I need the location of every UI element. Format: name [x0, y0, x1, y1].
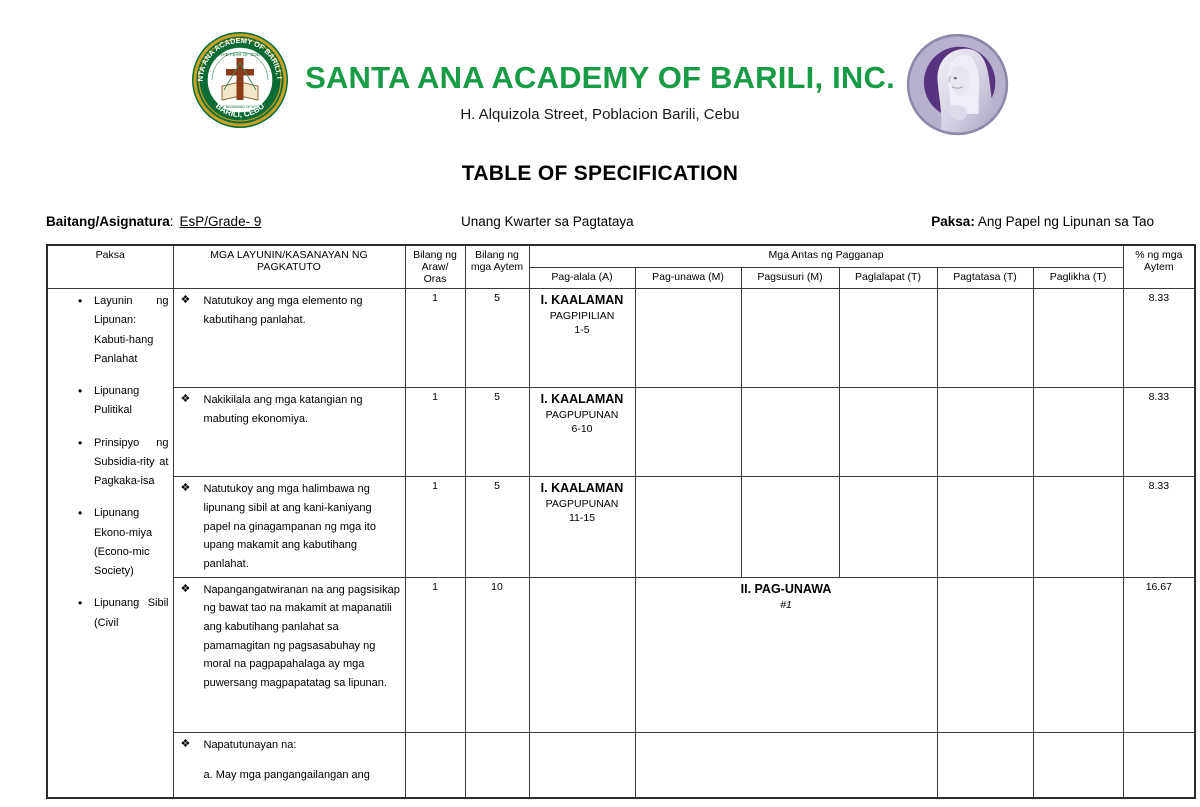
header-level-paglalapat: Paglalapat (T): [839, 267, 937, 289]
cell-pagtatasa: [937, 732, 1033, 798]
percent-cell: [1123, 732, 1195, 798]
objective-cell: Natutukoy ang mga elemento ng kabutihang…: [173, 289, 405, 388]
cell-pagunawa: [635, 289, 741, 388]
list-item: Prinsipyo ng Subsidia-rity at Pagkaka-is…: [78, 434, 169, 492]
cell-paglikha: [1033, 388, 1123, 477]
table-row: Nakikilala ang mga katangian ng mabuting…: [47, 388, 1195, 477]
cell-pagtatasa: [937, 388, 1033, 477]
cognitive-range: 11-15: [534, 511, 631, 525]
percent-cell: 8.33: [1123, 289, 1195, 388]
objective-subitem: a. May mga pangangailangan ang: [178, 766, 401, 785]
cognitive-type: PAGPIPILIAN: [534, 309, 631, 323]
document-title: TABLE OF SPECIFICATION: [0, 162, 1200, 186]
cell-pagsusuri: [741, 477, 839, 577]
header-percent: % ng mga Aytem: [1123, 245, 1195, 289]
items-cell: 5: [465, 388, 529, 477]
cell-pagalala: [529, 732, 635, 798]
cell-pagunawa: [635, 388, 741, 477]
objective-text: Nakikilala ang mga katangian ng mabuting…: [178, 391, 401, 428]
cell-pagsusuri: [741, 289, 839, 388]
header-days: Bilang ng Araw/ Oras: [405, 245, 465, 289]
objective-cell: Napatutunayan na: a. May mga pangangaila…: [173, 732, 405, 798]
table-row: Layunin ng Lipunan: Kabuti-hang Panlahat…: [47, 289, 1195, 388]
list-item: Lipunang Sibil (Civil: [78, 594, 169, 633]
svg-text:THE FEAR OF GOD: THE FEAR OF GOD: [220, 52, 260, 57]
cell-pagsusuri: [741, 388, 839, 477]
percent-cell: 16.67: [1123, 577, 1195, 732]
objective-text: Napangangatwiranan na ang pagsisikap ng …: [178, 581, 401, 693]
cell-pagtatasa: [937, 477, 1033, 577]
objective-cell: Natutukoy ang mga halimbawa ng lipunang …: [173, 477, 405, 577]
paksa-list: Layunin ng Lipunan: Kabuti-hang Panlahat…: [52, 292, 169, 633]
header-level-paglikha: Paglikha (T): [1033, 267, 1123, 289]
cell-pagunawa: [635, 477, 741, 577]
cognitive-cell-pagalala: I. KAALAMAN PAGPIPILIAN 1-5: [529, 289, 635, 388]
topic-label: Paksa:: [931, 214, 975, 229]
table-row: Napangangatwiranan na ang pagsisikap ng …: [47, 577, 1195, 732]
spacer: [178, 754, 401, 766]
list-item: Layunin ng Lipunan: Kabuti-hang Panlahat: [78, 292, 169, 369]
cognitive-level: I. KAALAMAN: [534, 292, 631, 309]
cell-paglalapat: [839, 289, 937, 388]
letterhead: THE FEAR OF GOD IS THE BEGINNING OF WISD…: [0, 22, 1200, 152]
items-cell: 10: [465, 577, 529, 732]
header-level-pagalala: Pag-alala (A): [529, 267, 635, 289]
cell-paglalapat: [839, 477, 937, 577]
cognitive-cell-pagalala: I. KAALAMAN PAGPUPUNAN 6-10: [529, 388, 635, 477]
cognitive-type: PAGPUPUNAN: [534, 408, 631, 422]
cell-paglikha: [1033, 289, 1123, 388]
header-row-group: Paksa MGA LAYUNIN/KASANAYAN NG PAGKATUTO…: [47, 245, 1195, 267]
list-item: Lipunang Pulitikal: [78, 382, 169, 421]
school-name: SANTA ANA ACADEMY OF BARILI, INC.: [0, 60, 1200, 96]
cognitive-cell-pagalala: I. KAALAMAN PAGPUPUNAN 11-15: [529, 477, 635, 577]
table-body: Layunin ng Lipunan: Kabuti-hang Panlahat…: [47, 289, 1195, 798]
header-objectives: MGA LAYUNIN/KASANAYAN NG PAGKATUTO: [173, 245, 405, 289]
paksa-cell: Layunin ng Lipunan: Kabuti-hang Panlahat…: [47, 289, 173, 798]
items-cell: 5: [465, 289, 529, 388]
header-paksa: Paksa: [47, 245, 173, 289]
objective-cell: Nakikilala ang mga katangian ng mabuting…: [173, 388, 405, 477]
topic-value: Ang Papel ng Lipunan sa Tao: [978, 214, 1154, 229]
cognitive-range: 6-10: [534, 422, 631, 436]
days-cell: [405, 732, 465, 798]
days-cell: 1: [405, 577, 465, 732]
table-of-specification: Paksa MGA LAYUNIN/KASANAYAN NG PAGKATUTO…: [46, 244, 1196, 799]
cell-paglikha: [1033, 577, 1123, 732]
cognitive-range: 1-5: [534, 323, 631, 337]
cognitive-level: I. KAALAMAN: [534, 391, 631, 408]
header-level-pagunawa: Pag-unawa (M): [635, 267, 741, 289]
cognitive-level: II. PAG-UNAWA: [640, 581, 933, 598]
table-row: Natutukoy ang mga halimbawa ng lipunang …: [47, 477, 1195, 577]
cognitive-cell-merged: [635, 732, 937, 798]
cognitive-cell-pagunawa: II. PAG-UNAWA #1: [635, 577, 937, 732]
table-row: Napatutunayan na: a. May mga pangangaila…: [47, 732, 1195, 798]
cell-pagalala: [529, 577, 635, 732]
subject-field: Baitang/Asignatura:EsP/Grade- 9: [46, 214, 261, 229]
subject-value: EsP/Grade- 9: [174, 214, 262, 229]
topic-field: Paksa: Ang Papel ng Lipunan sa Tao: [931, 214, 1154, 229]
items-cell: [465, 732, 529, 798]
list-item: Lipunang Ekono-miya (Econo-mic Society): [78, 504, 169, 581]
objective-text: Natutukoy ang mga elemento ng kabutihang…: [178, 292, 401, 329]
cognitive-level: I. KAALAMAN: [534, 480, 631, 497]
objective-cell: Napangangatwiranan na ang pagsisikap ng …: [173, 577, 405, 732]
cell-pagtatasa: [937, 577, 1033, 732]
cell-paglalapat: [839, 388, 937, 477]
header-level-pagtatasa: Pagtatasa (T): [937, 267, 1033, 289]
days-cell: 1: [405, 289, 465, 388]
percent-cell: 8.33: [1123, 477, 1195, 577]
document-meta: Baitang/Asignatura:EsP/Grade- 9 Unang Kw…: [46, 214, 1154, 234]
cell-paglikha: [1033, 732, 1123, 798]
days-cell: 1: [405, 388, 465, 477]
header-level-pagsusuri: Pagsusuri (M): [741, 267, 839, 289]
cognitive-type: PAGPUPUNAN: [534, 497, 631, 511]
table-head: Paksa MGA LAYUNIN/KASANAYAN NG PAGKATUTO…: [47, 245, 1195, 289]
subject-separator: :: [170, 214, 174, 229]
cognitive-range: #1: [640, 598, 933, 612]
school-address: H. Alquizola Street, Poblacion Barili, C…: [0, 106, 1200, 123]
objective-text: Natutukoy ang mga halimbawa ng lipunang …: [178, 480, 401, 573]
quarter-label: Unang Kwarter sa Pagtataya: [461, 214, 634, 229]
cell-pagtatasa: [937, 289, 1033, 388]
subject-label: Baitang/Asignatura: [46, 214, 170, 229]
cell-paglikha: [1033, 477, 1123, 577]
objective-text: Napatutunayan na:: [178, 736, 401, 755]
items-cell: 5: [465, 477, 529, 577]
header-items: Bilang ng mga Aytem: [465, 245, 529, 289]
days-cell: 1: [405, 477, 465, 577]
percent-cell: 8.33: [1123, 388, 1195, 477]
header-performance-group: Mga Antas ng Pagganap: [529, 245, 1123, 267]
